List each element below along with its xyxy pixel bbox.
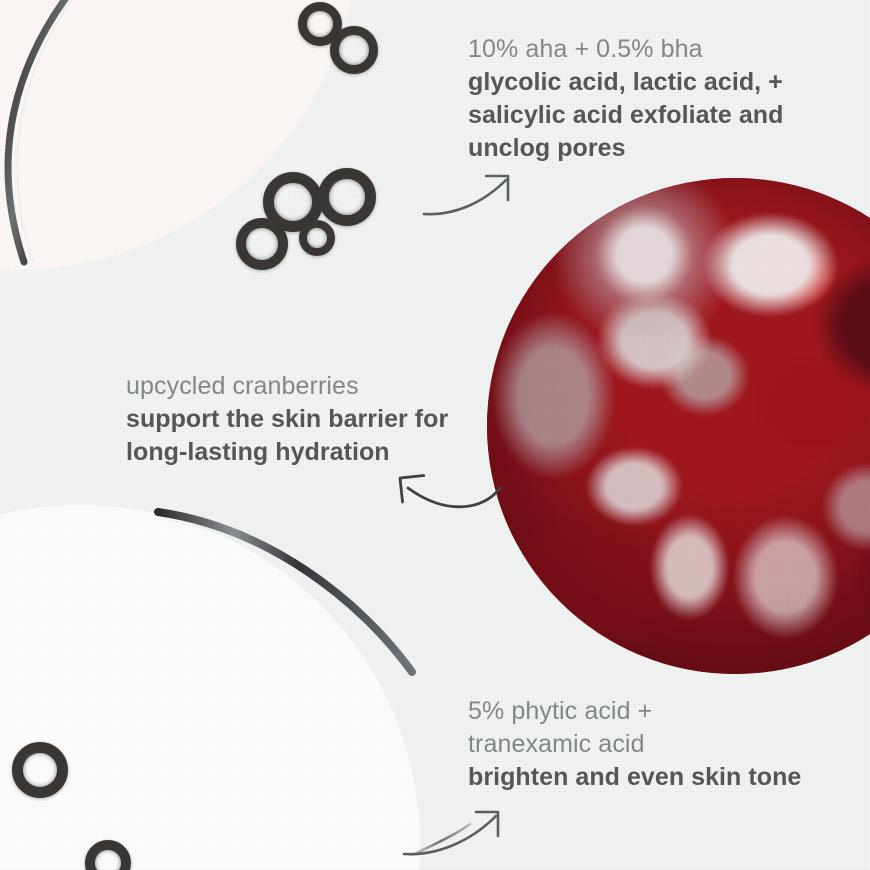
callout-phytic-bold: brighten and even skin tone [468, 761, 808, 794]
ring-low-a [12, 742, 68, 798]
ring-mid-c [236, 218, 288, 270]
callout-aha-bha: 10% aha + 0.5% bha glycolic acid, lactic… [468, 33, 798, 165]
cranberry-photo-circle [487, 178, 870, 674]
ring-mid-d [299, 220, 335, 256]
arc-bottom-edge [412, 824, 470, 855]
callout-phytic-light: 5% phytic acid + tranexamic acid [468, 695, 808, 761]
poster-canvas: 10% aha + 0.5% bha glycolic acid, lactic… [0, 0, 870, 870]
callout-cranberries-light: upcycled cranberries [126, 370, 466, 403]
callout-phytic-tranexamic: 5% phytic acid + tranexamic acid brighte… [468, 695, 808, 794]
ring-mid-b [318, 168, 376, 226]
callout-cranberries: upcycled cranberries support the skin ba… [126, 370, 466, 469]
callout-aha-bha-light: 10% aha + 0.5% bha [468, 33, 798, 66]
panel-bottom-left [0, 505, 420, 870]
callout-cranberries-bold: support the skin barrier for long-lastin… [126, 403, 466, 469]
callout-aha-bha-bold: glycolic acid, lactic acid, + salicylic … [468, 66, 798, 165]
ring-top-b [330, 26, 378, 74]
